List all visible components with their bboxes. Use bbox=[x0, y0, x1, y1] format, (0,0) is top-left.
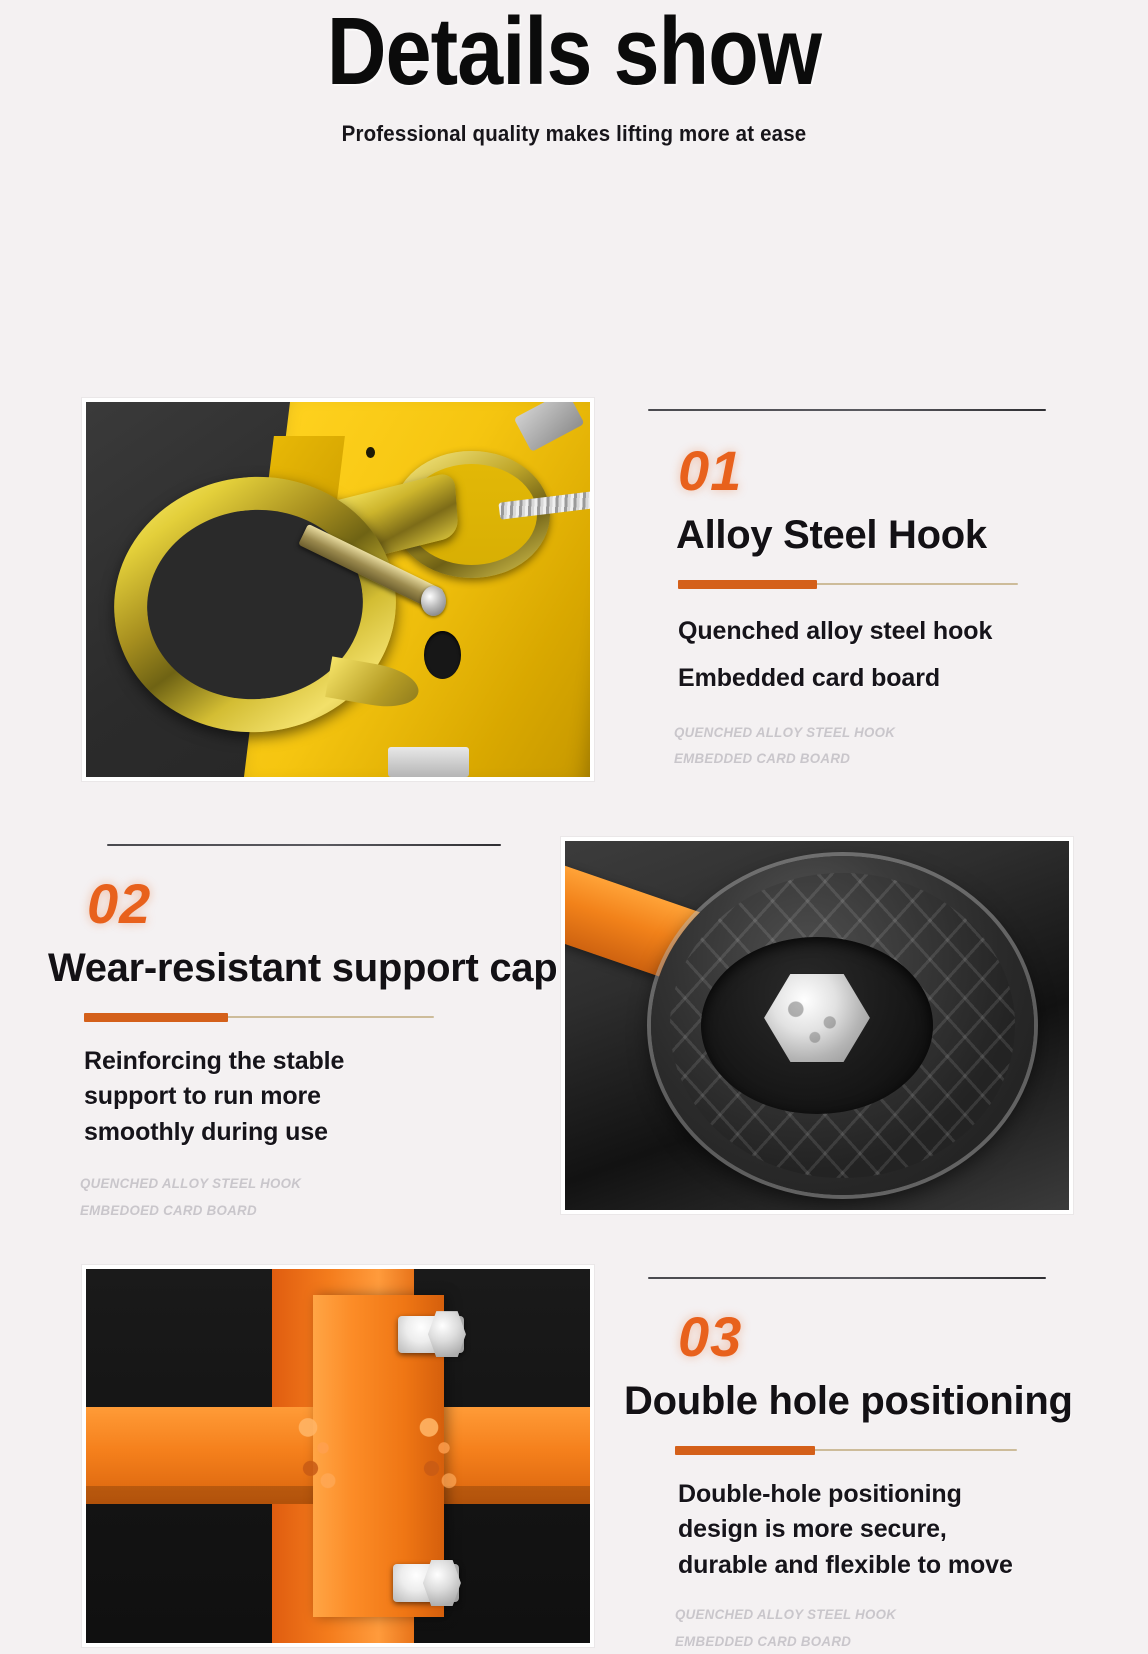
watermark-line: EMBEDDED CARD BOARD bbox=[674, 745, 1027, 772]
page-subtitle: Professional quality makes lifting more … bbox=[40, 121, 1108, 147]
body-line: durable and flexible to move bbox=[678, 1548, 1046, 1584]
section-rule bbox=[648, 409, 1046, 411]
latch-pin bbox=[421, 586, 446, 616]
section-watermark: QUENCHED ALLOY STEEL HOOK EMBEDDED CARD … bbox=[674, 719, 1046, 772]
double-hole-positioning-photo bbox=[82, 1265, 594, 1647]
body-line: Quenched alloy steel hook bbox=[678, 614, 1046, 650]
section-number: 01 bbox=[678, 443, 1046, 499]
alloy-steel-hook-photo bbox=[82, 398, 594, 781]
section-number: 03 bbox=[678, 1309, 1046, 1365]
watermark-line: EMBEDOED CARD BOARD bbox=[80, 1197, 480, 1224]
section-rule bbox=[107, 844, 501, 846]
double-hole-positioning-image bbox=[86, 1269, 590, 1643]
body-line: design is more secure, bbox=[678, 1512, 1046, 1548]
body-line: support to run more bbox=[84, 1079, 501, 1115]
support-cap-photo bbox=[561, 837, 1073, 1214]
watermark-line: EMBEDDED CARD BOARD bbox=[675, 1628, 1027, 1654]
body-line: Double-hole positioning bbox=[678, 1477, 1046, 1513]
bolt-head bbox=[428, 1311, 466, 1357]
section-body: Double-hole positioning design is more s… bbox=[678, 1477, 1046, 1584]
section-watermark: QUENCHED ALLOY STEEL HOOK EMBEDDED CARD … bbox=[675, 1601, 1046, 1654]
body-line: Embedded card board bbox=[678, 661, 1046, 697]
bolt-head bbox=[423, 1560, 461, 1606]
weld-seam-right bbox=[414, 1411, 464, 1493]
section-number: 02 bbox=[87, 876, 501, 932]
watermark-line: QUENCHED ALLOY STEEL HOOK bbox=[674, 719, 1027, 746]
watermark-line: QUENCHED ALLOY STEEL HOOK bbox=[80, 1170, 480, 1197]
weld-seam-left bbox=[293, 1411, 343, 1493]
chrome-hex-bolt-lower bbox=[393, 1564, 459, 1601]
section-rule bbox=[648, 1277, 1046, 1279]
section-02-text: 02 Wear-resistant support cap Reinforcin… bbox=[107, 844, 501, 1223]
watermark-line: QUENCHED ALLOY STEEL HOOK bbox=[675, 1601, 1027, 1628]
section-watermark: QUENCHED ALLOY STEEL HOOK EMBEDOED CARD … bbox=[80, 1170, 501, 1223]
section-divider bbox=[675, 1446, 1017, 1455]
section-title: Alloy Steel Hook bbox=[676, 513, 1046, 558]
section-01-text: 01 Alloy Steel Hook Quenched alloy steel… bbox=[648, 409, 1046, 772]
body-line: smoothly during use bbox=[84, 1115, 501, 1151]
body-bottom-tab bbox=[388, 747, 469, 777]
section-divider bbox=[84, 1013, 434, 1022]
body-line: Reinforcing the stable bbox=[84, 1044, 501, 1080]
divider-orange-bar bbox=[84, 1013, 228, 1022]
support-cap-image bbox=[565, 841, 1069, 1210]
body-rivet-dot bbox=[366, 447, 375, 458]
page-title: Details show bbox=[80, 2, 1067, 103]
divider-orange-bar bbox=[675, 1446, 815, 1455]
section-divider bbox=[678, 580, 1018, 589]
page-header: Details show Professional quality makes … bbox=[0, 0, 1148, 147]
section-03-text: 03 Double hole positioning Double-hole p… bbox=[648, 1277, 1046, 1654]
section-title: Wear-resistant support cap bbox=[48, 946, 501, 991]
chrome-hex-bolt-upper bbox=[398, 1316, 464, 1353]
divider-orange-bar bbox=[678, 580, 817, 589]
section-title: Double hole positioning bbox=[624, 1379, 1046, 1424]
section-body: Quenched alloy steel hook Embedded card … bbox=[678, 614, 1046, 697]
alloy-steel-hook-image bbox=[86, 402, 590, 777]
section-body: Reinforcing the stable support to run mo… bbox=[84, 1044, 501, 1151]
